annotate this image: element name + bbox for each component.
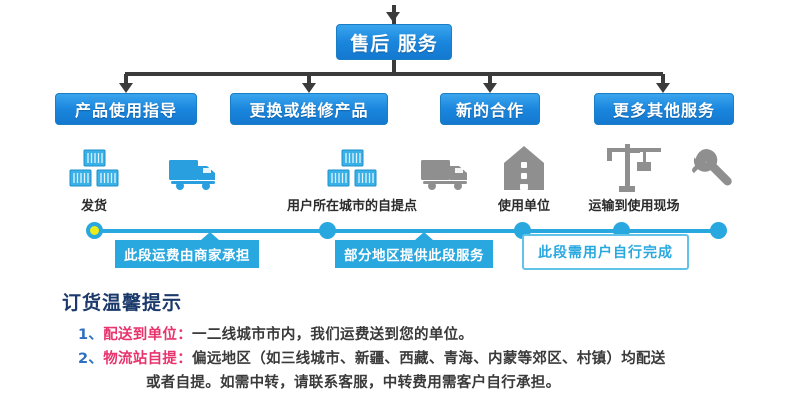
timeline-dot-start[interactable] bbox=[86, 222, 103, 239]
flow-node-root[interactable]: 售后 服务 bbox=[336, 24, 452, 60]
connector-horizontal-bus bbox=[125, 72, 663, 76]
building-house-icon bbox=[478, 144, 570, 192]
stage-label: 用户所在城市的自提点 bbox=[252, 195, 452, 214]
tag-label: 部分地区提供此段服务 bbox=[344, 248, 484, 264]
stage-installation bbox=[678, 144, 748, 195]
connector-root-top bbox=[392, 5, 396, 24]
timeline-tag-partial-regions: 部分地区提供此段服务 bbox=[335, 240, 493, 268]
timeline-tag-merchant-pays: 此段运费由商家承担 bbox=[115, 240, 259, 268]
timeline-dot-5[interactable] bbox=[710, 222, 727, 239]
note-item-2: 2、物流站自提：偏远地区（如三线城市、新疆、西藏、青海、内蒙等郊区、村镇）均配送 bbox=[78, 347, 666, 368]
flow-node-new-cooperation[interactable]: 新的合作 bbox=[440, 93, 540, 125]
sales-service-infographic: 售后 服务 产品使用指导 更换或维修产品 新的合作 更多其他服务 bbox=[0, 0, 790, 412]
note-body: 偏远地区（如三线城市、新疆、西藏、青海、内蒙等郊区、村镇）均配送 bbox=[192, 351, 666, 367]
arrow-down-icon-3 bbox=[483, 83, 497, 93]
stage-using-unit: 使用单位 bbox=[478, 144, 570, 214]
stage-transport-1 bbox=[148, 144, 240, 195]
flow-node-replace-repair[interactable]: 更换或维修产品 bbox=[230, 93, 388, 125]
arrow-down-icon-4 bbox=[656, 83, 670, 93]
stage-label: 运输到使用现场 bbox=[570, 195, 698, 214]
stage-shipping: 发货 bbox=[48, 144, 140, 214]
shipping-containers-icon bbox=[48, 144, 140, 192]
flowchart: 售后 服务 产品使用指导 更换或维修产品 新的合作 更多其他服务 bbox=[0, 0, 790, 140]
stage-label: 发货 bbox=[48, 195, 140, 214]
notes-title: 订货温馨提示 bbox=[62, 288, 182, 315]
note-item-2-continuation: 或者自提。如需中转，请联系客服，中转费用需客户自行承担。 bbox=[146, 371, 560, 392]
tag-notch-icon bbox=[201, 232, 219, 240]
note-keyword: 配送到单位： bbox=[103, 327, 192, 343]
arrow-down-icon-2 bbox=[302, 83, 316, 93]
note-number: 2、 bbox=[78, 351, 103, 367]
timeline-dot-2[interactable] bbox=[319, 222, 336, 239]
tag-notch-icon bbox=[415, 232, 433, 240]
tag-label: 此段需用户自行完成 bbox=[538, 245, 673, 261]
order-notes: 订货温馨提示 1、配送到单位：一二线城市市内，我们运费送到您的单位。 2、物流站… bbox=[0, 288, 790, 412]
wrench-icon bbox=[678, 144, 748, 192]
arrow-down-icon-1 bbox=[119, 83, 133, 93]
timeline-tag-customer-self: 此段需用户自行完成 bbox=[522, 234, 689, 270]
logistics-stage-row: 发货 bbox=[0, 140, 790, 218]
delivery-truck-icon bbox=[148, 144, 240, 192]
note-body: 一二线城市市内，我们运费送到您的单位。 bbox=[192, 327, 473, 343]
responsibility-timeline: 此段运费由商家承担 部分地区提供此段服务 此段需用户自行完成 bbox=[0, 218, 790, 284]
flow-node-more-services[interactable]: 更多其他服务 bbox=[594, 93, 734, 125]
tag-label: 此段运费由商家承担 bbox=[124, 248, 250, 264]
note-number: 1、 bbox=[78, 327, 103, 343]
stage-label: 使用单位 bbox=[478, 195, 570, 214]
flow-node-product-guide[interactable]: 产品使用指导 bbox=[55, 93, 197, 125]
note-item-1: 1、配送到单位：一二线城市市内，我们运费送到您的单位。 bbox=[78, 323, 473, 344]
note-keyword: 物流站自提： bbox=[103, 351, 192, 367]
